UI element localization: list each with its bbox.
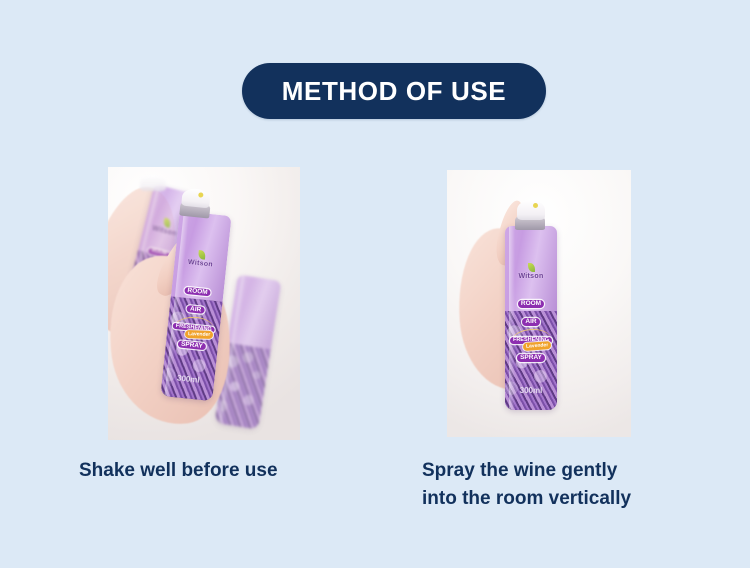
label-line-air: AIR [187, 305, 205, 314]
can-nozzle-cap [517, 200, 545, 220]
method-of-use-banner: METHOD OF USE [242, 63, 546, 119]
product-label: ROOM AIR FRESHENING SPRAY [168, 278, 221, 354]
brand-name: Witson [518, 273, 543, 280]
photo-scene-spray: Witson ROOM AIR FRESHENING SPRAY Lavende… [447, 170, 631, 437]
product-label: ROOM AIR FRESHENING SPRAY [508, 292, 554, 364]
step-1-image: Witson ROOM AIR FRESHENING SPRAY [108, 167, 300, 440]
leaf-icon [197, 250, 205, 260]
leaf-icon [162, 217, 171, 227]
nozzle-dot-icon [533, 203, 538, 208]
step-2-caption: Spray the wine gently into the room vert… [422, 457, 631, 512]
spray-can: Witson ROOM AIR FRESHENING SPRAY Lavende… [505, 226, 557, 410]
step-1-caption: Shake well before use [79, 457, 278, 485]
brand-mark: Witson [505, 263, 557, 280]
label-line-spray: SPRAY [178, 340, 206, 350]
volume-text: 300ml [505, 386, 557, 395]
label-line-room: ROOM [518, 300, 544, 307]
photo-scene-shake: Witson ROOM AIR FRESHENING SPRAY [108, 167, 300, 440]
label-line-air: AIR [522, 318, 539, 325]
page-title: METHOD OF USE [282, 78, 506, 104]
nozzle-dot-icon [198, 192, 203, 197]
background-can-cap [140, 175, 166, 191]
leaf-icon [528, 263, 535, 272]
step-2-image: Witson ROOM AIR FRESHENING SPRAY Lavende… [447, 170, 631, 437]
label-line-spray: SPRAY [517, 354, 545, 361]
label-line-room: ROOM [184, 287, 211, 297]
scent-badge: Lavender [185, 330, 213, 339]
